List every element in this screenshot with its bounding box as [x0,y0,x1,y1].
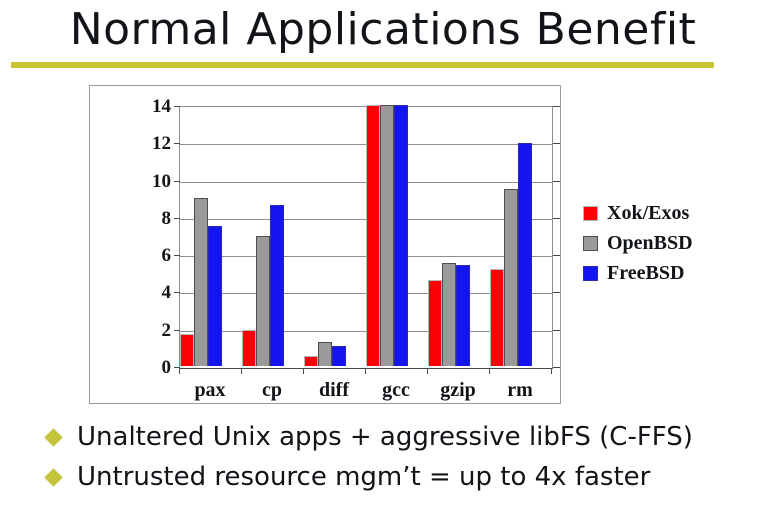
y-axis-tick-label: 8 [137,209,171,228]
y-axis-tick-mark [174,181,180,182]
y-axis-tick-label: 2 [137,321,171,340]
chart-bar [332,346,346,366]
chart-bar [394,105,408,366]
y-axis-tick-label: 0 [137,358,171,377]
x-axis-tick-mark [241,368,242,374]
y-axis-tick-mark-right [553,255,560,256]
slide-root: Normal Applications Benefit 02468101214 … [0,0,766,513]
legend-swatch-icon [583,266,598,281]
y-axis-tick-mark [174,255,180,256]
legend-item: OpenBSD [583,228,763,258]
chart-bar [256,236,270,367]
legend-item-label: FreeBSD [607,262,684,284]
chart-bar [442,263,456,366]
legend-item: FreeBSD [583,258,763,288]
chart-bar [456,265,470,366]
x-axis-tick-mark [489,368,490,374]
bullet-list: Unaltered Unix apps + aggressive libFS (… [44,417,760,497]
chart-bar [318,342,332,366]
chart-bar [490,269,504,366]
x-axis-tick-mark [365,368,366,374]
x-axis-tick-mark [551,368,552,374]
y-axis-tick-mark-right [553,292,560,293]
legend-swatch-icon [583,236,598,251]
legend-item-label: OpenBSD [607,232,693,254]
y-axis-tick-mark [174,143,180,144]
chart-bar [208,226,222,366]
x-axis-tick-mark [179,368,180,374]
y-axis-tick-mark [174,330,180,331]
y-axis-tick-label: 14 [137,97,171,116]
y-axis-tick-label: 10 [137,172,171,191]
chart-legend: Xok/ExosOpenBSDFreeBSD [583,198,763,288]
y-axis-tick-label: 12 [137,134,171,153]
chart-bar [304,356,318,366]
chart-bar [504,189,518,366]
chart-bar [366,105,380,366]
x-axis-tick-mark [303,368,304,374]
legend-item-label: Xok/Exos [607,202,689,224]
y-axis-tick-label: 4 [137,283,171,302]
chart-bar [270,205,284,366]
list-item: Unaltered Unix apps + aggressive libFS (… [44,417,760,457]
x-axis-tick-mark [427,368,428,374]
legend-swatch-icon [583,206,598,221]
list-item: Untrusted resource mgm’t = up to 4x fast… [44,457,760,497]
y-axis-tick-mark [174,292,180,293]
bullet-text: Unaltered Unix apps + aggressive libFS (… [77,422,693,452]
chart-bar [242,330,256,366]
y-axis-tick-mark [174,106,180,107]
y-axis-tick-mark-right [553,181,560,182]
legend-item: Xok/Exos [583,198,763,228]
y-axis-tick-mark-right [553,218,560,219]
title-underline-rule [11,62,714,68]
chart-bar [194,198,208,366]
chart-bar [428,280,442,366]
chart-bar [518,143,532,366]
x-axis-category-label: rm [479,379,561,401]
bullet-text: Untrusted resource mgm’t = up to 4x fast… [77,462,650,492]
y-axis-tick-mark [174,218,180,219]
page-title: Normal Applications Benefit [0,2,766,58]
y-axis-tick-label: 6 [137,246,171,265]
y-axis-tick-mark-right [553,143,560,144]
y-axis-tick-mark-right [553,330,560,331]
diamond-bullet-icon [44,428,62,446]
diamond-bullet-icon [44,468,62,486]
chart-bar [380,105,394,366]
chart-bar [180,334,194,366]
chart-container: 02468101214 paxcpdiffgccgziprm [89,85,561,404]
y-axis-tick-mark-right [553,367,560,368]
y-axis-tick-mark-right [553,106,560,107]
